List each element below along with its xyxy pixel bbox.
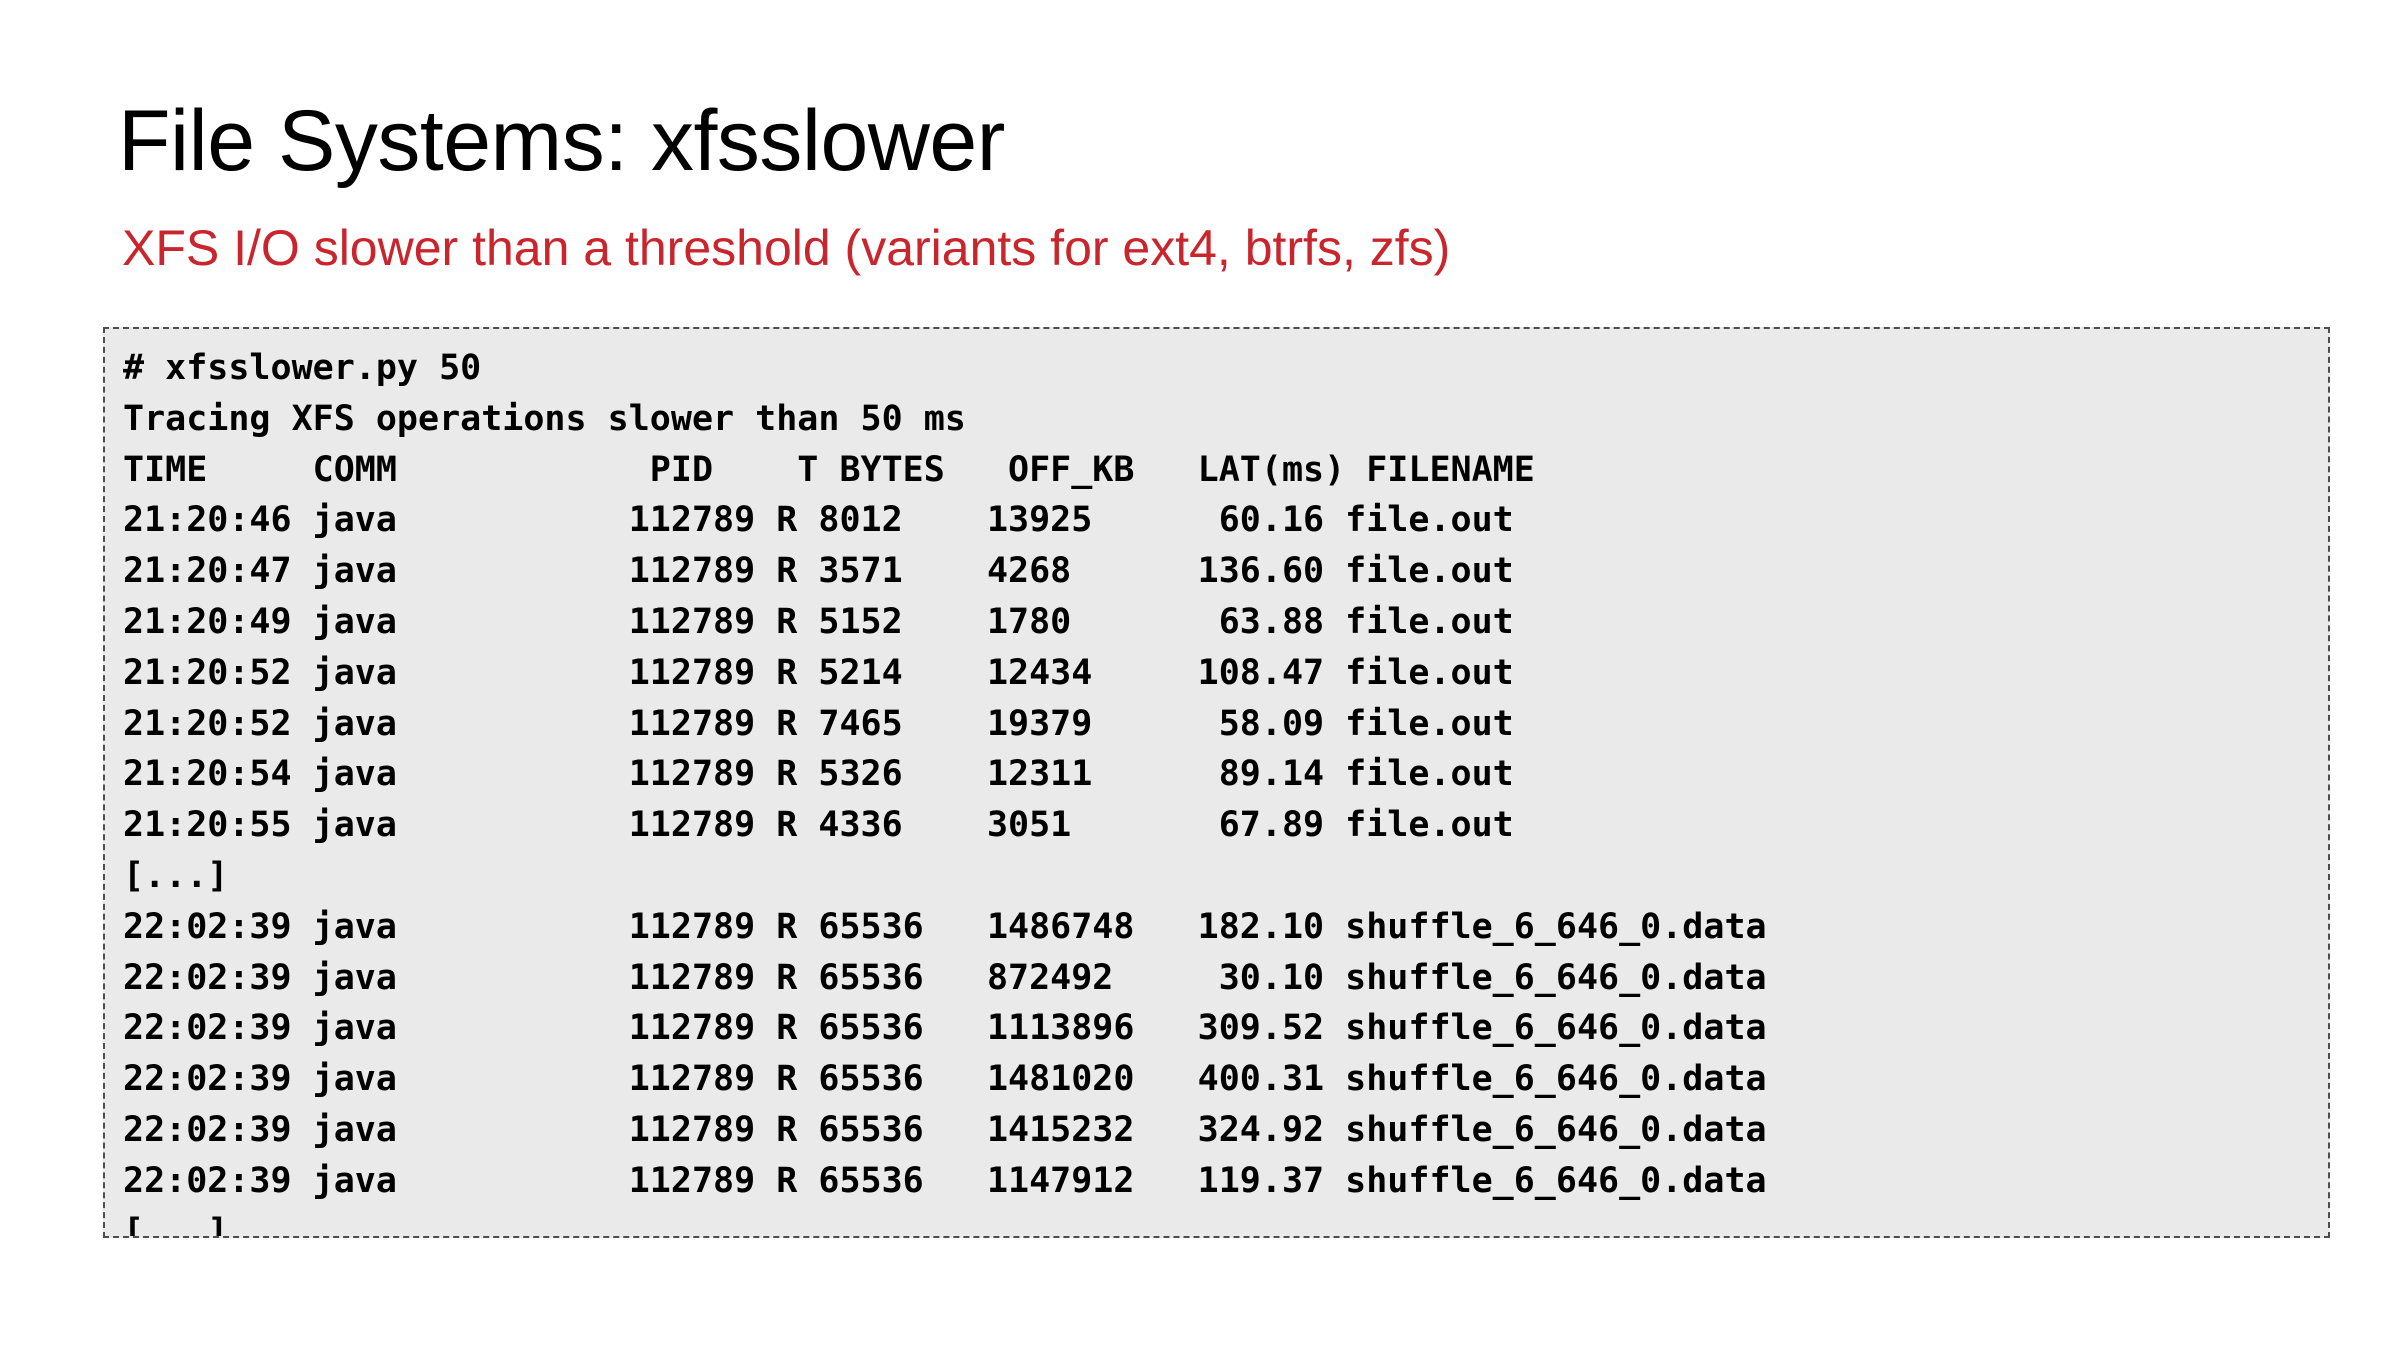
slide-subtitle: XFS I/O slower than a threshold (variant…	[122, 220, 1450, 278]
slide-root: File Systems: xfsslower XFS I/O slower t…	[0, 0, 2400, 1350]
page-title: File Systems: xfsslower	[118, 94, 1005, 189]
terminal-output-box: # xfsslower.py 50 Tracing XFS operations…	[103, 327, 2330, 1238]
terminal-output-text: # xfsslower.py 50 Tracing XFS operations…	[105, 329, 2328, 1238]
